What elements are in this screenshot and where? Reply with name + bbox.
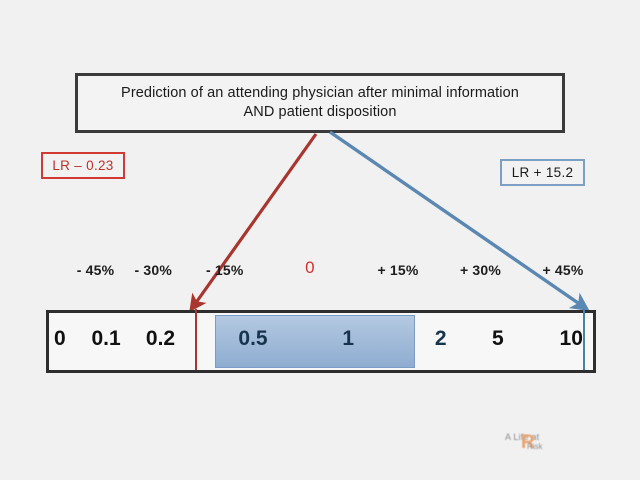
positive-lr-marker [583, 309, 585, 370]
scale-mark: 10 [560, 327, 583, 351]
negative-lr-marker [195, 309, 197, 370]
likelihood-ratio-scale: 00.10.20.512510 [46, 310, 596, 373]
arrow-layer [0, 0, 640, 480]
watermark-logo: A Life at R Risk [505, 430, 585, 462]
watermark-line-2: Risk [527, 442, 543, 451]
percent-ruler: - 45%- 30%- 15%0+ 15%+ 30%+ 45% [46, 262, 596, 286]
percent-tick: + 15% [377, 262, 418, 278]
negative-lr-label: LR – 0.23 [52, 158, 113, 173]
percent-tick: + 45% [542, 262, 583, 278]
title-line-2: AND patient disposition [243, 103, 396, 122]
positive-lr-label: LR + 15.2 [512, 165, 574, 180]
title-line-1: Prediction of an attending physician aft… [121, 84, 519, 103]
watermark-line-1: A Life at [505, 432, 585, 442]
title-box: Prediction of an attending physician aft… [75, 73, 565, 133]
percent-tick: - 45% [77, 262, 115, 278]
scale-mark: 0.5 [238, 327, 267, 351]
percent-tick: - 30% [134, 262, 172, 278]
scale-mark: 0.1 [92, 327, 121, 351]
scale-mark: 5 [492, 327, 504, 351]
slide-canvas: Prediction of an attending physician aft… [0, 0, 640, 480]
percent-tick: - 15% [206, 262, 244, 278]
positive-lr-badge: LR + 15.2 [500, 159, 585, 186]
percent-tick: 0 [305, 258, 315, 278]
scale-mark: 0 [54, 327, 66, 351]
scale-mark: 2 [435, 327, 447, 351]
negative-lr-badge: LR – 0.23 [41, 152, 125, 179]
scale-mark: 0.2 [146, 327, 175, 351]
scale-mark: 1 [342, 327, 354, 351]
percent-tick: + 30% [460, 262, 501, 278]
